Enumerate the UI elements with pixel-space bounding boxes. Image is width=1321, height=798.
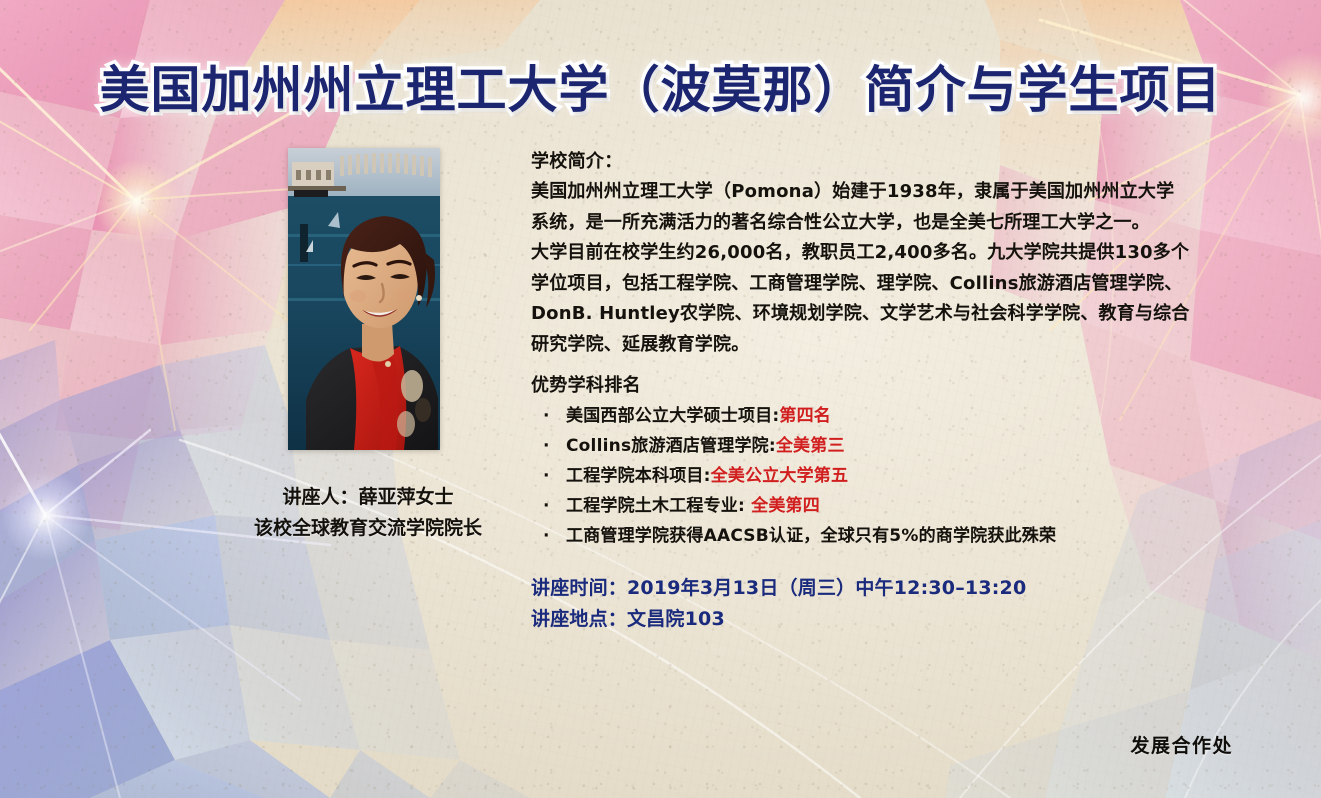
intro-paragraph-2: 大学目前在校学生约26,000名，教职员工2,400多名。九大学院共提供130多… xyxy=(531,238,1191,360)
rankings-heading: 优势学科排名 xyxy=(531,371,1191,401)
speaker-caption: 讲座人：薛亚萍女士 该校全球教育交流学院院长 xyxy=(218,482,518,544)
speaker-title-line: 该校全球教育交流学院院长 xyxy=(218,513,518,544)
list-item: ·Collins旅游酒店管理学院:全美第三 xyxy=(540,431,1191,461)
list-item: ·工商管理学院获得AACSB认证，全球只有5%的商学院获此殊荣 xyxy=(540,521,1191,551)
rank-value: 全美第四 xyxy=(751,496,820,516)
rank-value: 第四名 xyxy=(779,406,831,426)
rankings-list: ·美国西部公立大学硕士项目:第四名 ·Collins旅游酒店管理学院:全美第三 … xyxy=(531,401,1191,551)
bullet-icon: · xyxy=(543,431,550,461)
content-column: 学校简介： 美国加州州立理工大学（Pomona）始建于1938年，隶属于美国加州… xyxy=(531,147,1191,635)
rank-label: 工商管理学院获得AACSB认证，全球只有5%的商学院获此殊荣 xyxy=(566,526,1056,546)
intro-heading: 学校简介： xyxy=(531,147,1191,177)
rank-value: 全美公立大学第五 xyxy=(711,466,849,486)
title-bar: 美国加州州立理工大学（波莫那）简介与学生项目 xyxy=(0,50,1321,122)
speaker-name-line: 讲座人：薛亚萍女士 xyxy=(218,482,518,513)
rank-label: 工程学院本科项目: xyxy=(566,466,711,486)
list-item: ·美国西部公立大学硕士项目:第四名 xyxy=(540,401,1191,431)
speaker-portrait-photo xyxy=(288,148,440,450)
rank-label: Collins旅游酒店管理学院: xyxy=(566,436,776,456)
event-time: 讲座时间：2019年3月13日（周三）中午12:30–13:20 xyxy=(531,573,1191,604)
list-item: ·工程学院土木工程专业: 全美第四 xyxy=(540,491,1191,521)
organizer-signature: 发展合作处 xyxy=(1130,731,1233,758)
bullet-icon: · xyxy=(543,461,550,491)
event-info: 讲座时间：2019年3月13日（周三）中午12:30–13:20 讲座地点：文昌… xyxy=(531,573,1191,635)
rank-label: 美国西部公立大学硕士项目: xyxy=(566,406,779,426)
bullet-icon: · xyxy=(543,401,550,431)
list-item: ·工程学院本科项目:全美公立大学第五 xyxy=(540,461,1191,491)
poster-canvas: 美国加州州立理工大学（波莫那）简介与学生项目 xyxy=(0,0,1321,798)
event-place: 讲座地点：文昌院103 xyxy=(531,604,1191,635)
bullet-icon: · xyxy=(543,521,550,551)
rank-value: 全美第三 xyxy=(776,436,845,456)
intro-paragraph-1: 美国加州州立理工大学（Pomona）始建于1938年，隶属于美国加州州立大学系统… xyxy=(531,177,1191,238)
rank-label: 工程学院土木工程专业: xyxy=(566,496,751,516)
bullet-icon: · xyxy=(543,491,550,521)
page-title: 美国加州州立理工大学（波莫那）简介与学生项目 xyxy=(100,50,1222,122)
